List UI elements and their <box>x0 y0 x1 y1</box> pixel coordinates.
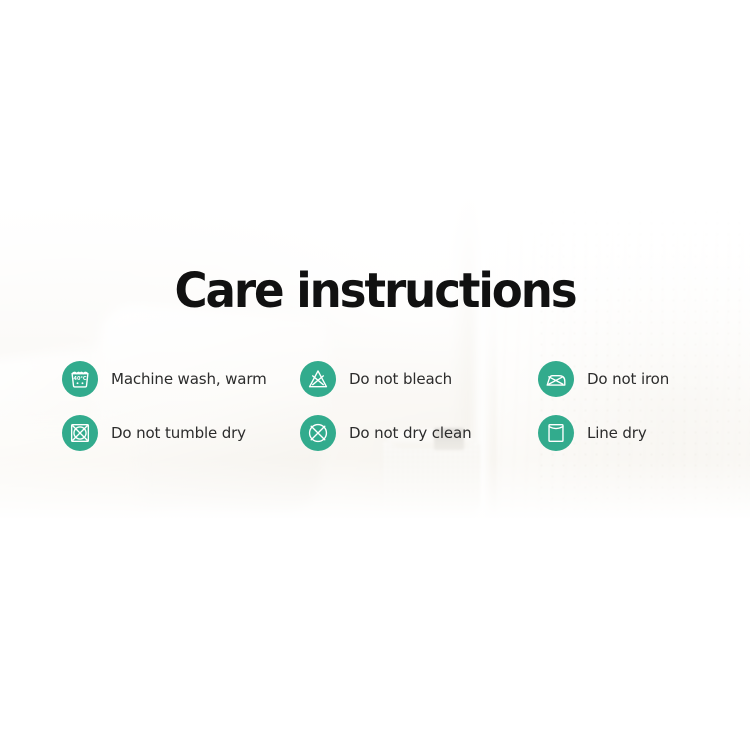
line-dry-icon <box>538 415 574 451</box>
care-item-label: Machine wash, warm <box>111 370 267 388</box>
do-not-dry-clean-icon <box>300 415 336 451</box>
do-not-tumble-dry-icon <box>62 415 98 451</box>
care-item-label: Do not iron <box>587 370 669 388</box>
page-title: Care instructions <box>23 267 728 315</box>
care-item-line-dry: Line dry <box>538 415 702 451</box>
care-item-do-not-iron: Do not iron <box>538 361 702 397</box>
svg-text:40°C: 40°C <box>74 376 87 382</box>
do-not-iron-icon <box>538 361 574 397</box>
care-item-label: Line dry <box>587 424 647 442</box>
machine-wash-warm-icon: 40°C <box>62 361 98 397</box>
care-item-label: Do not tumble dry <box>111 424 246 442</box>
care-item-do-not-tumble-dry: Do not tumble dry <box>62 415 300 451</box>
banner-content: Care instructions 40°C Machine wash, war… <box>0 190 750 518</box>
care-symbol-grid: 40°C Machine wash, warm Do not bleach <box>62 352 702 460</box>
care-item-do-not-bleach: Do not bleach <box>300 361 538 397</box>
care-item-label: Do not dry clean <box>349 424 471 442</box>
do-not-bleach-icon <box>300 361 336 397</box>
care-instructions-banner: Care instructions 40°C Machine wash, war… <box>0 0 750 750</box>
care-item-machine-wash-warm: 40°C Machine wash, warm <box>62 361 300 397</box>
care-item-do-not-dry-clean: Do not dry clean <box>300 415 538 451</box>
care-item-label: Do not bleach <box>349 370 452 388</box>
